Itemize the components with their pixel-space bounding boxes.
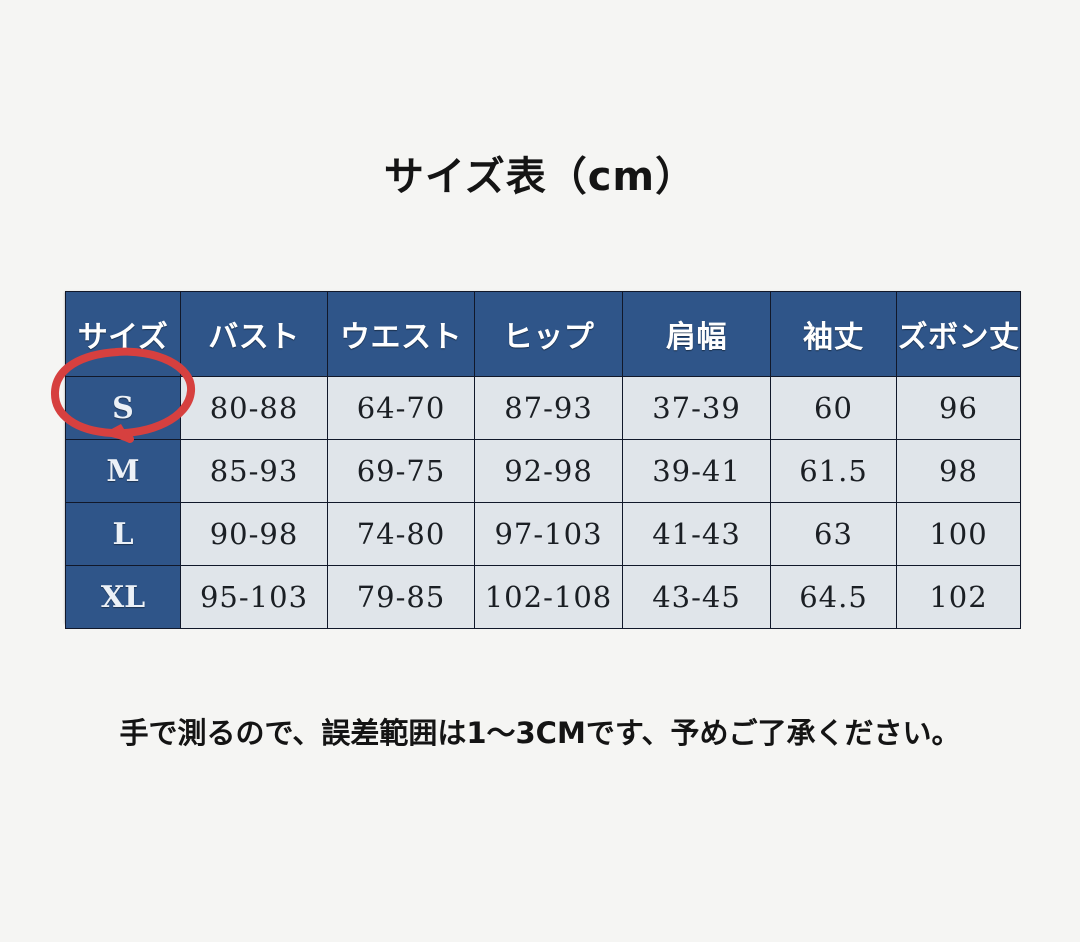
cell-s-sleeve: 60 xyxy=(771,377,897,440)
cell-xl-shoulder: 43-45 xyxy=(623,566,771,629)
size-label-s: S xyxy=(66,377,181,440)
measurement-note: 手で測るので、誤差範囲は1～3CMです、予めご了承ください。 xyxy=(0,710,1080,752)
size-label-l: L xyxy=(66,503,181,566)
cell-m-shoulder: 39-41 xyxy=(623,440,771,503)
cell-l-waist: 74-80 xyxy=(328,503,475,566)
table-header-row: サイズ バスト ウエスト ヒップ 肩幅 袖丈 ズボン丈 xyxy=(66,292,1021,377)
column-header-sleeve: 袖丈 xyxy=(771,292,897,377)
cell-s-pants: 96 xyxy=(897,377,1021,440)
cell-m-waist: 69-75 xyxy=(328,440,475,503)
column-header-waist: ウエスト xyxy=(328,292,475,377)
size-label-m: M xyxy=(66,440,181,503)
cell-s-waist: 64-70 xyxy=(328,377,475,440)
cell-l-hip: 97-103 xyxy=(475,503,623,566)
size-label-xl: XL xyxy=(66,566,181,629)
size-chart-page: サイズ表（cm） サイズ バスト ウエスト ヒップ 肩幅 袖丈 ズボン丈 xyxy=(0,0,1080,942)
table-row: M 85-93 69-75 92-98 39-41 61.5 98 xyxy=(66,440,1021,503)
cell-m-sleeve: 61.5 xyxy=(771,440,897,503)
size-table-container: サイズ バスト ウエスト ヒップ 肩幅 袖丈 ズボン丈 S 80-88 64-7… xyxy=(65,291,1020,623)
cell-xl-hip: 102-108 xyxy=(475,566,623,629)
cell-s-bust: 80-88 xyxy=(181,377,328,440)
column-header-hip: ヒップ xyxy=(475,292,623,377)
column-header-size: サイズ xyxy=(66,292,181,377)
page-title: サイズ表（cm） xyxy=(0,154,1080,200)
cell-l-bust: 90-98 xyxy=(181,503,328,566)
cell-l-shoulder: 41-43 xyxy=(623,503,771,566)
cell-m-bust: 85-93 xyxy=(181,440,328,503)
size-table: サイズ バスト ウエスト ヒップ 肩幅 袖丈 ズボン丈 S 80-88 64-7… xyxy=(65,291,1021,629)
cell-xl-bust: 95-103 xyxy=(181,566,328,629)
table-row: S 80-88 64-70 87-93 37-39 60 96 xyxy=(66,377,1021,440)
cell-s-shoulder: 37-39 xyxy=(623,377,771,440)
column-header-pants: ズボン丈 xyxy=(897,292,1021,377)
column-header-shoulder: 肩幅 xyxy=(623,292,771,377)
cell-s-hip: 87-93 xyxy=(475,377,623,440)
table-row: XL 95-103 79-85 102-108 43-45 64.5 102 xyxy=(66,566,1021,629)
cell-m-pants: 98 xyxy=(897,440,1021,503)
column-header-bust: バスト xyxy=(181,292,328,377)
table-row: L 90-98 74-80 97-103 41-43 63 100 xyxy=(66,503,1021,566)
cell-l-sleeve: 63 xyxy=(771,503,897,566)
cell-m-hip: 92-98 xyxy=(475,440,623,503)
cell-xl-sleeve: 64.5 xyxy=(771,566,897,629)
cell-xl-pants: 102 xyxy=(897,566,1021,629)
cell-l-pants: 100 xyxy=(897,503,1021,566)
cell-xl-waist: 79-85 xyxy=(328,566,475,629)
